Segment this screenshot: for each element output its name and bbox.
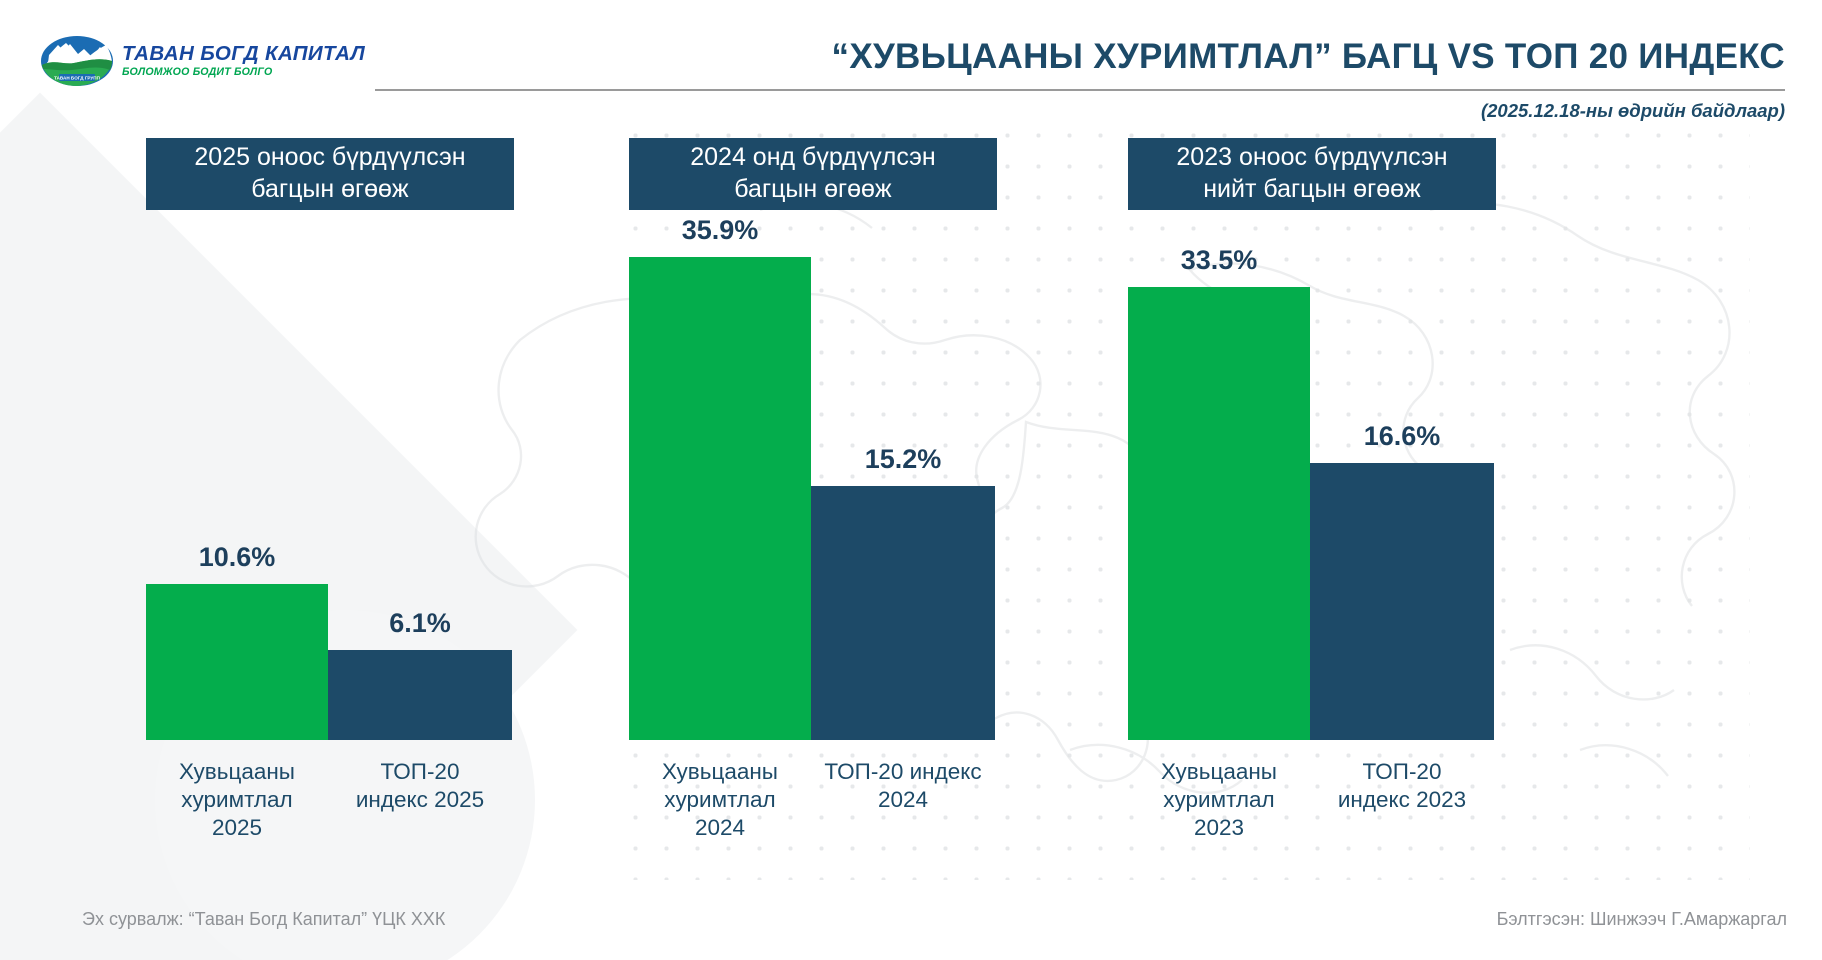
bar-value-top20-2025: 6.1% bbox=[328, 608, 512, 639]
cat-line2: индекс 2023 bbox=[1338, 787, 1466, 812]
plot-area-2025: 10.6% 6.1% bbox=[146, 210, 514, 740]
category-labels-2025: Хувьцааны хуримтлал 2025 ТОП-20 индекс 2… bbox=[146, 758, 514, 868]
bar-value-top20-2023: 16.6% bbox=[1310, 421, 1494, 452]
plot-area-2024: 35.9% 15.2% bbox=[629, 210, 997, 740]
cat-line2: 2024 bbox=[878, 787, 928, 812]
cat-line1: Хувьцааны bbox=[1161, 759, 1277, 784]
cat-line2: индекс 2025 bbox=[356, 787, 484, 812]
bar-portfolio-2025 bbox=[146, 584, 328, 740]
cat-line1: ТОП-20 индекс bbox=[824, 759, 981, 784]
bar-value-portfolio-2025: 10.6% bbox=[146, 542, 328, 573]
panel-header-2024: 2024 онд бүрдүүлсэн багцын өгөөж bbox=[629, 138, 997, 210]
bar-portfolio-2024 bbox=[629, 257, 811, 740]
chart-panel-2024: 2024 онд бүрдүүлсэн багцын өгөөж 35.9% 1… bbox=[629, 138, 997, 898]
bar-top20-2023 bbox=[1310, 463, 1494, 740]
page-subtitle: (2025.12.18-ны өдрийн байдлаар) bbox=[375, 100, 1785, 122]
plot-area-2023: 33.5% 16.6% bbox=[1128, 210, 1496, 740]
bar-value-portfolio-2023: 33.5% bbox=[1128, 245, 1310, 276]
panel-header-line2: багцын өгөөж bbox=[690, 173, 935, 205]
title-divider bbox=[375, 89, 1785, 91]
title-block: “ХУВЬЦААНЫ ХУРИМТЛАЛ” БАГЦ VS ТОП 20 ИНД… bbox=[375, 38, 1785, 122]
mountain-logo-icon: ТАВАН БОГД ГРУПП bbox=[40, 35, 114, 87]
cat-line2: хуримтлал bbox=[664, 787, 775, 812]
company-logo: ТАВАН БОГД ГРУПП ТАВАН БОГД КАПИТАЛ БОЛО… bbox=[40, 30, 300, 92]
category-label-top20-2024: ТОП-20 индекс 2024 bbox=[811, 758, 995, 814]
category-label-portfolio-2025: Хувьцааны хуримтлал 2025 bbox=[146, 758, 328, 842]
category-label-top20-2025: ТОП-20 индекс 2025 bbox=[328, 758, 512, 814]
cat-line1: Хувьцааны bbox=[662, 759, 778, 784]
cat-line2: хуримтлал bbox=[1163, 787, 1274, 812]
panel-header-line2: багцын өгөөж bbox=[194, 173, 465, 205]
footer-prepared-by: Бэлтгэсэн: Шинжээч Г.Амаржаргал bbox=[1497, 909, 1787, 930]
cat-line3: 2024 bbox=[695, 815, 745, 840]
panel-header-2023: 2023 оноос бүрдүүлсэн нийт багцын өгөөж bbox=[1128, 138, 1496, 210]
category-label-top20-2023: ТОП-20 индекс 2023 bbox=[1310, 758, 1494, 814]
panel-header-line1: 2025 оноос бүрдүүлсэн bbox=[194, 141, 465, 173]
cat-line1: ТОП-20 bbox=[381, 759, 460, 784]
logo-tagline: БОЛОМЖОО БОДИТ БОЛГО bbox=[122, 67, 365, 78]
category-label-portfolio-2023: Хувьцааны хуримтлал 2023 bbox=[1128, 758, 1310, 842]
panel-header-line2: нийт багцын өгөөж bbox=[1176, 173, 1447, 205]
footer-source: Эх сурвалж: “Таван Богд Капитал” ҮЦК ХХК bbox=[82, 909, 445, 930]
cat-line1: Хувьцааны bbox=[179, 759, 295, 784]
bar-top20-2025 bbox=[328, 650, 512, 740]
bar-column-top20-2024: 15.2% bbox=[811, 486, 995, 740]
logo-title: ТАВАН БОГД КАПИТАЛ bbox=[122, 44, 365, 65]
bar-column-top20-2025: 6.1% bbox=[328, 650, 512, 740]
cat-line2: хуримтлал bbox=[181, 787, 292, 812]
chart-panel-2023: 2023 оноос бүрдүүлсэн нийт багцын өгөөж … bbox=[1128, 138, 1496, 898]
cat-line1: ТОП-20 bbox=[1363, 759, 1442, 784]
category-label-portfolio-2024: Хувьцааны хуримтлал 2024 bbox=[629, 758, 811, 842]
cat-line3: 2023 bbox=[1194, 815, 1244, 840]
bar-column-portfolio-2025: 10.6% bbox=[146, 584, 328, 740]
panel-header-2025: 2025 оноос бүрдүүлсэн багцын өгөөж bbox=[146, 138, 514, 210]
bar-column-top20-2023: 16.6% bbox=[1310, 463, 1494, 740]
page-title: “ХУВЬЦААНЫ ХУРИМТЛАЛ” БАГЦ VS ТОП 20 ИНД… bbox=[375, 38, 1785, 77]
chart-panel-2025: 2025 оноос бүрдүүлсэн багцын өгөөж 10.6%… bbox=[146, 138, 514, 898]
logo-wordmark: ТАВАН БОГД КАПИТАЛ БОЛОМЖОО БОДИТ БОЛГО bbox=[122, 44, 365, 78]
cat-line3: 2025 bbox=[212, 815, 262, 840]
bar-value-portfolio-2024: 35.9% bbox=[629, 215, 811, 246]
panel-header-line1: 2024 онд бүрдүүлсэн bbox=[690, 141, 935, 173]
bar-portfolio-2023 bbox=[1128, 287, 1310, 740]
category-labels-2024: Хувьцааны хуримтлал 2024 ТОП-20 индекс 2… bbox=[629, 758, 997, 868]
bar-column-portfolio-2023: 33.5% bbox=[1128, 287, 1310, 740]
bar-column-portfolio-2024: 35.9% bbox=[629, 257, 811, 740]
bar-top20-2024 bbox=[811, 486, 995, 740]
category-labels-2023: Хувьцааны хуримтлал 2023 ТОП-20 индекс 2… bbox=[1128, 758, 1496, 868]
bar-value-top20-2024: 15.2% bbox=[811, 444, 995, 475]
panel-header-line1: 2023 оноос бүрдүүлсэн bbox=[1176, 141, 1447, 173]
svg-text:ТАВАН БОГД ГРУПП: ТАВАН БОГД ГРУПП bbox=[54, 76, 100, 81]
